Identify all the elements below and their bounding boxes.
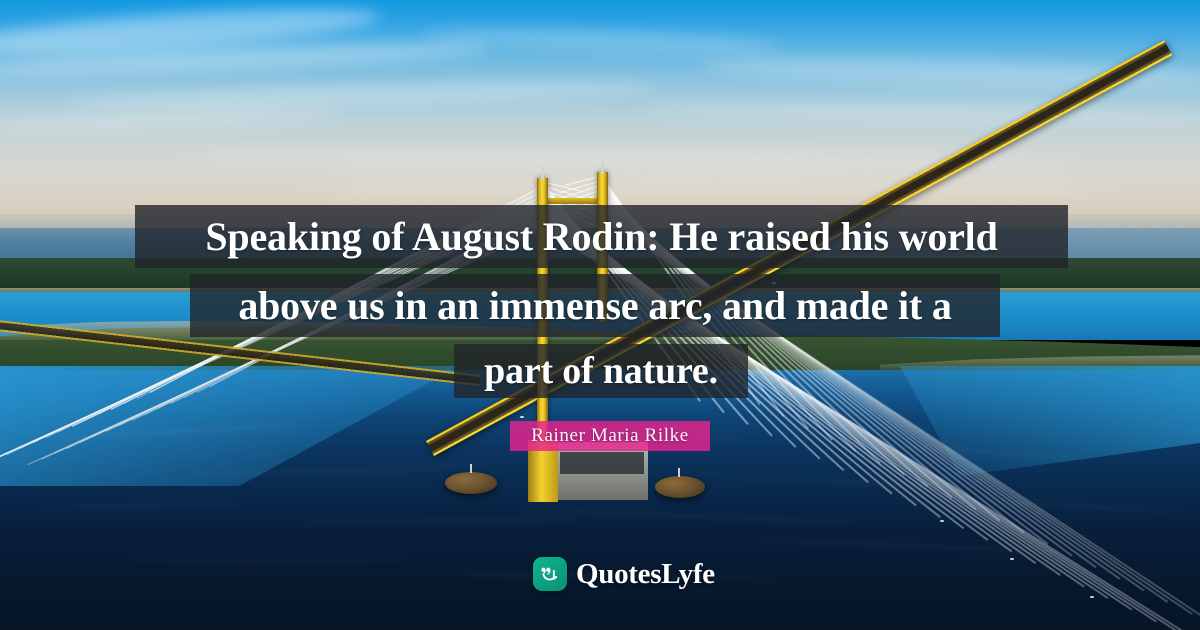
vehicle-light — [1010, 558, 1014, 560]
dolphin-beacon-left — [470, 464, 472, 473]
quoteslyfe-logo[interactable]: QuotesLyfe — [533, 557, 715, 591]
quote-smiley-icon — [533, 557, 567, 591]
quote-line-3: part of nature. — [454, 344, 748, 398]
pylon-mast-far — [601, 160, 604, 174]
pylon-mast-near — [541, 166, 544, 180]
quote-line-2: above us in an immense arc, and made it … — [190, 274, 1000, 337]
quote-line-1: Speaking of August Rodin: He raised his … — [135, 205, 1068, 268]
quote-line-3-text: part of nature. — [484, 352, 718, 390]
vehicle-light — [940, 520, 944, 522]
quote-card: Speaking of August Rodin: He raised his … — [0, 0, 1200, 630]
quote-line-2-text: above us in an immense arc, and made it … — [238, 286, 951, 326]
vehicle-light — [520, 416, 524, 418]
vehicle-light — [1090, 596, 1094, 598]
tower-crossbeam — [542, 198, 604, 204]
bridge-pier-shadow — [560, 452, 644, 474]
dolphin-beacon-right — [678, 468, 680, 477]
author-name: Rainer Maria Rilke — [531, 425, 688, 447]
protective-dolphin-right — [655, 476, 705, 498]
quoteslyfe-wordmark: QuotesLyfe — [576, 558, 715, 591]
quote-line-1-text: Speaking of August Rodin: He raised his … — [205, 217, 997, 257]
protective-dolphin-left — [445, 472, 497, 494]
author-attribution-badge: Rainer Maria Rilke — [510, 421, 710, 451]
